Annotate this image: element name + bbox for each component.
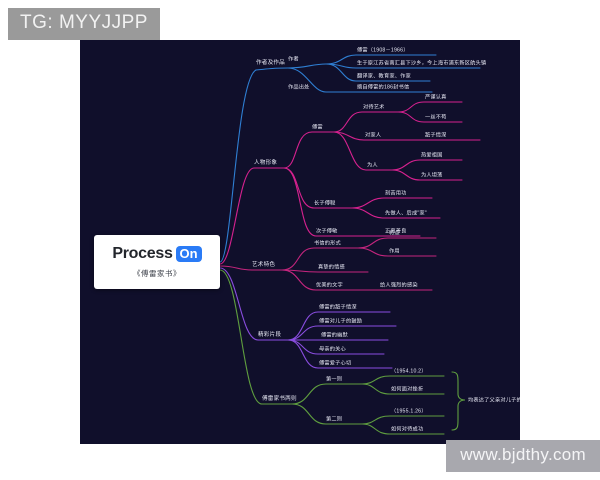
node-letter-form[interactable]: 书信的形式 [314, 241, 341, 246]
node-artistic-features[interactable]: 艺术特色 [252, 263, 275, 269]
node-art-rigorous[interactable]: 严谨认真 [425, 95, 447, 100]
node-sincere-emotion[interactable]: 真挚的情感 [318, 265, 345, 270]
watermark-top-left: TG: MYYJJPP [8, 8, 160, 40]
node-two-letters[interactable]: 傅雷家书两则 [262, 397, 297, 403]
node-eldest-son[interactable]: 长子傅聪 [314, 201, 336, 206]
node-family-deep-love[interactable]: 舐子情深 [425, 133, 447, 138]
node-letter-one-theme[interactable]: 如何面对挫折 [391, 387, 423, 392]
node-art-meticulous[interactable]: 一丝不苟 [425, 115, 447, 120]
watermark-bottom-right: www.bjdthy.com [446, 440, 600, 472]
node-excerpt-5[interactable]: 傅雷爱子心切 [319, 361, 351, 366]
node-toward-art[interactable]: 对待艺术 [363, 105, 385, 110]
node-letter-two[interactable]: 第二则 [326, 417, 342, 422]
node-letter-one-date[interactable]: （1954.10.2） [391, 369, 427, 374]
node-excerpt-2[interactable]: 傅雷对儿子的鼓励 [319, 319, 362, 324]
mindmap-canvas[interactable]: 作者及作品 作者 傅雷（1908－1966） 生于原江苏省南汇县下沙乡，今上海市… [80, 40, 520, 444]
node-author-birthplace[interactable]: 生于原江苏省南汇县下沙乡，今上海市浦东新区航头镇 [357, 61, 486, 66]
node-conduct-patriotic[interactable]: 热爱祖国 [421, 153, 443, 158]
node-author-and-work[interactable]: 作者及作品 [256, 61, 285, 67]
node-fulei[interactable]: 傅雷 [312, 125, 323, 130]
node-author-lifespan[interactable]: 傅雷（1908－1966） [357, 48, 409, 53]
node-excerpt-4[interactable]: 母亲的关心 [319, 347, 346, 352]
node-bracket-note[interactable]: 均表达了父亲对儿子的舐犊之情 [468, 398, 520, 403]
central-node-title: 《傅雷家书》 [133, 268, 181, 279]
node-conduct-candid[interactable]: 为人坦荡 [421, 173, 443, 178]
processon-logo: Process On [112, 245, 201, 263]
node-author-occupations[interactable]: 翻译家、教育家、作家 [357, 74, 411, 79]
node-work-source[interactable]: 作品出处 [288, 85, 310, 90]
node-letter-characteristic[interactable]: 特点 [389, 231, 400, 236]
node-beautiful-words[interactable]: 优美的文字 [316, 283, 343, 288]
node-author[interactable]: 作者 [288, 57, 299, 62]
node-son-person-first[interactable]: 先做人、后成"家" [385, 211, 427, 216]
node-excerpt-1[interactable]: 傅雷的舐子情深 [319, 305, 357, 310]
node-letter-two-date[interactable]: （1955.1.26） [391, 409, 427, 414]
central-node[interactable]: Process On 《傅雷家书》 [94, 235, 220, 289]
mindmap-screenshot: 作者及作品 作者 傅雷（1908－1966） 生于原江苏省南汇县下沙乡，今上海市… [0, 0, 600, 480]
node-letter-two-theme[interactable]: 如何对待成功 [391, 427, 423, 432]
node-work-source-detail[interactable]: 摘自傅雷的186封书信 [357, 85, 409, 90]
node-son-diligent[interactable]: 刻苦用功 [385, 191, 407, 196]
node-personal-conduct[interactable]: 为人 [367, 163, 378, 168]
node-highlight-excerpts[interactable]: 精彩片段 [258, 333, 281, 339]
node-letter-function[interactable]: 作用 [389, 249, 400, 254]
node-excerpt-3[interactable]: 傅雷的幽默 [321, 333, 348, 338]
node-strong-appeal[interactable]: 给人强烈的感染 [380, 283, 418, 288]
node-letter-one[interactable]: 第一则 [326, 377, 342, 382]
logo-badge: On [176, 246, 202, 263]
node-toward-family[interactable]: 对家人 [365, 133, 381, 138]
logo-wordmark: Process [112, 245, 172, 263]
node-second-son[interactable]: 次子傅敏 [316, 229, 338, 234]
node-character-image[interactable]: 人物形象 [254, 161, 277, 167]
